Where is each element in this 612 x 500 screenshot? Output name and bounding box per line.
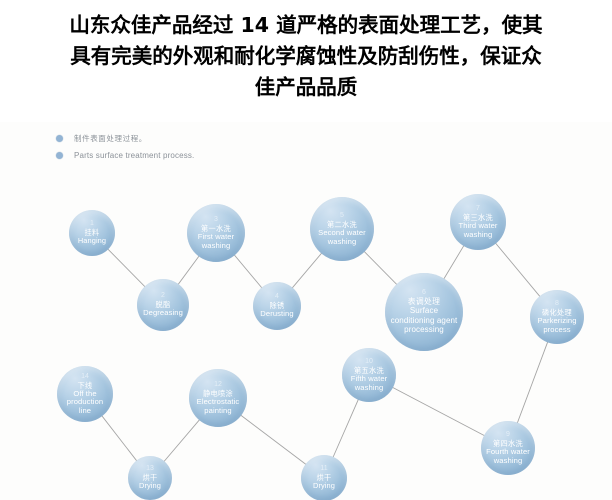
flow-node-label-en: Drying [136, 482, 164, 491]
bullet-dot-icon [56, 135, 63, 142]
flow-node-5[interactable]: 5第二水洗Second water washing [310, 197, 374, 261]
flow-node-12[interactable]: 12静电喷涂Electrostatic painting [189, 369, 247, 427]
flow-node-label-en: Derusting [257, 310, 296, 319]
flow-node-number: 2 [161, 292, 165, 300]
flow-node-3[interactable]: 3第一水洗First water washing [187, 204, 245, 262]
flow-node-number: 8 [555, 300, 559, 308]
flow-edge [391, 387, 486, 437]
legend: 制件表面处理过程。 Parts surface treatment proces… [56, 130, 194, 164]
legend-item: Parts surface treatment process. [56, 147, 194, 164]
flow-node-2[interactable]: 2脱脂Degreasing [137, 279, 189, 331]
flow-node-number: 3 [214, 216, 218, 224]
flow-node-9[interactable]: 9第四水洗Fourth water washing [481, 421, 535, 475]
flow-node-label-en: Drying [310, 482, 338, 491]
flow-node-number: 12 [214, 381, 222, 389]
flow-node-label-en: First water washing [187, 233, 245, 250]
flow-node-11[interactable]: 11烘干Drying [301, 455, 347, 500]
flow-node-label-en: Degreasing [140, 309, 186, 318]
flow-node-number: 4 [275, 293, 279, 301]
flow-node-number: 13 [146, 465, 154, 473]
flow-node-label-en: Off the production line [57, 390, 113, 416]
legend-item: 制件表面处理过程。 [56, 130, 194, 147]
legend-item-label: Parts surface treatment process. [74, 151, 194, 160]
flow-edge [517, 340, 548, 424]
flow-edge [163, 419, 201, 463]
flow-edge [240, 414, 308, 465]
flow-node-label-en: Surface conditioning agent processing [385, 306, 463, 334]
process-flow-diagram: 制件表面处理过程。 Parts surface treatment proces… [0, 122, 612, 500]
flow-node-label-en: Parkerizing process [530, 317, 584, 334]
flow-node-label-en: Electrostatic painting [189, 398, 247, 415]
flow-node-number: 1 [90, 220, 94, 228]
flow-node-7[interactable]: 7第三水洗Third water washing [450, 194, 506, 250]
flow-edge [233, 254, 263, 289]
flow-node-8[interactable]: 8磷化处理Parkerizing process [530, 290, 584, 344]
flow-node-13[interactable]: 13烘干Drying [128, 456, 172, 500]
flow-edge [177, 255, 200, 286]
flow-node-6[interactable]: 6表调处理Surface conditioning agent processi… [385, 273, 463, 351]
flow-node-label-en: Second water washing [310, 229, 374, 246]
flow-node-number: 5 [340, 212, 344, 220]
bullet-dot-icon [56, 152, 63, 159]
flow-edge [363, 250, 398, 285]
legend-item-label: 制件表面处理过程。 [74, 133, 147, 144]
flow-edge [107, 248, 146, 288]
flow-node-14[interactable]: 14下线Off the production line [57, 366, 113, 422]
flow-node-10[interactable]: 10第五水洗Fifth water washing [342, 348, 396, 402]
flow-node-4[interactable]: 4除锈Derusting [253, 282, 301, 330]
flow-edge [101, 415, 138, 463]
flow-node-label-cn: 表调处理 [408, 297, 440, 306]
flow-node-label-en: Fifth water washing [342, 375, 396, 392]
page-root: 山东众佳产品经过 14 道严格的表面处理工艺，使其 具有完美的外观和耐化学腐蚀性… [0, 0, 612, 500]
flow-node-number: 14 [81, 373, 89, 381]
flow-node-1[interactable]: 1挂料Hanging [69, 210, 115, 256]
flow-node-number: 7 [476, 205, 480, 213]
flow-node-number: 11 [320, 465, 327, 473]
flow-node-label-en: Hanging [75, 237, 109, 246]
flow-edge [291, 252, 322, 289]
flow-edge [332, 398, 359, 459]
flow-node-number: 9 [506, 431, 510, 439]
page-title: 山东众佳产品经过 14 道严格的表面处理工艺，使其 具有完美的外观和耐化学腐蚀性… [0, 0, 612, 103]
flow-node-number: 10 [365, 358, 373, 366]
flow-node-label-en: Third water washing [450, 222, 506, 239]
flow-edge [443, 244, 465, 280]
flow-edge [495, 242, 541, 298]
flow-node-label-en: Fourth water washing [481, 448, 535, 465]
